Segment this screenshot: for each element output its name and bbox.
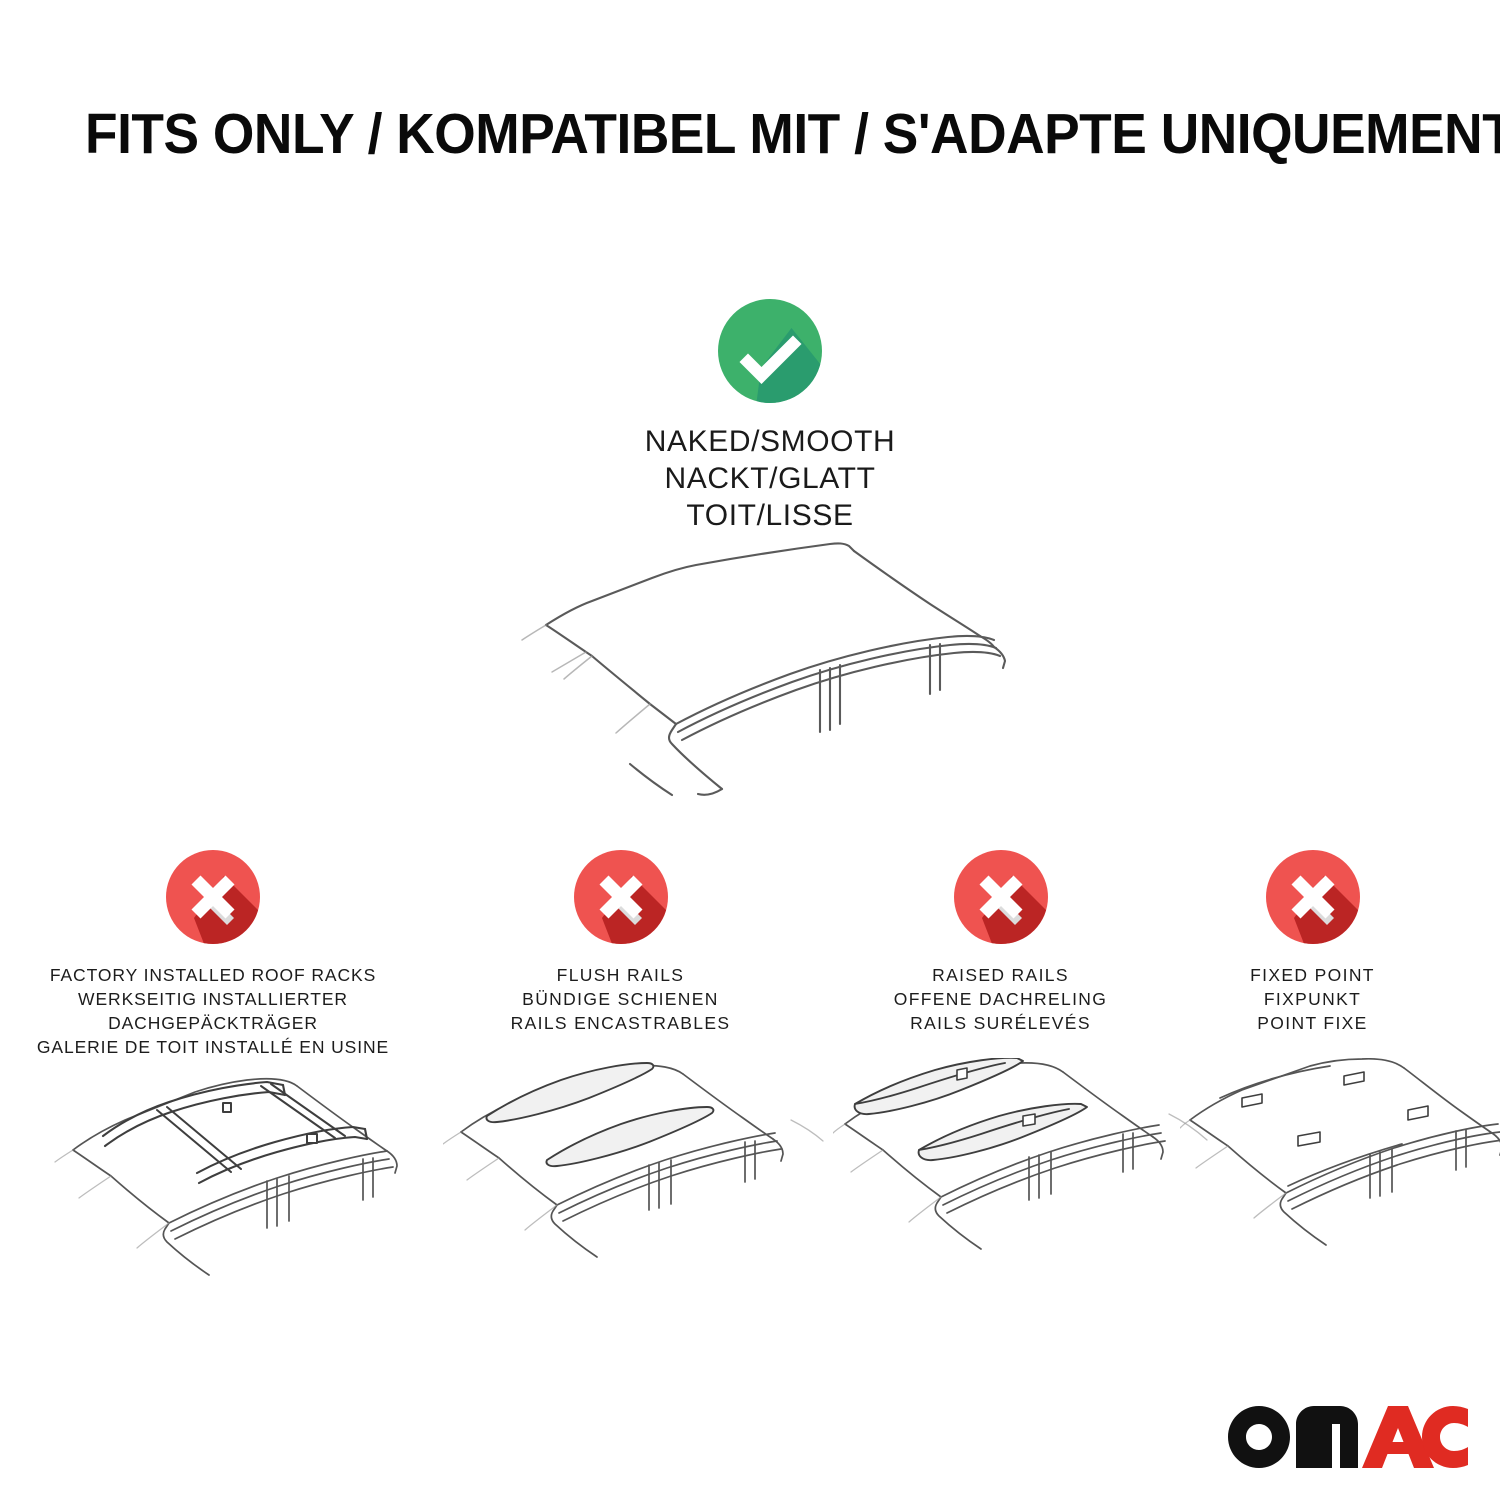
x-circle-icon	[572, 848, 670, 946]
label-line-de: OFFENE DACHRELING	[828, 987, 1173, 1011]
label-line-en: RAISED RAILS	[828, 963, 1173, 987]
incompatible-label: FLUSH RAILS BÜNDIGE SCHIENEN RAILS ENCAS…	[448, 963, 793, 1035]
compatible-block: NAKED/SMOOTH NACKT/GLATT TOIT/LISSE	[545, 296, 995, 534]
label-line-fr: RAILS SURÉLEVÉS	[828, 1011, 1173, 1035]
label-line-de-1: WERKSEITIG INSTALLIERTER	[13, 987, 413, 1011]
x-circle-icon	[164, 848, 262, 946]
car-roof-naked-smooth-illustration	[500, 518, 1060, 818]
incompatible-label: FACTORY INSTALLED ROOF RACKS WERKSEITIG …	[13, 963, 413, 1059]
car-roof-factory-roof-racks-illustration	[45, 1058, 445, 1298]
label-line-de-2: DACHGEPÄCKTRÄGER	[13, 1011, 413, 1035]
x-circle-icon	[952, 848, 1050, 946]
page-title: FITS ONLY / KOMPATIBEL MIT / S'ADAPTE UN…	[85, 104, 1338, 164]
car-roof-raised-rails-illustration	[833, 1058, 1233, 1298]
incompatible-item-factory-roof-racks: FACTORY INSTALLED ROOF RACKS WERKSEITIG …	[13, 848, 413, 1059]
incompatible-label: FIXED POINT FIXPUNKT POINT FIXE	[1185, 963, 1440, 1035]
car-roof-fixed-point-illustration	[1180, 1058, 1500, 1298]
logo-letter-m	[1296, 1406, 1358, 1468]
label-line-fr: GALERIE DE TOIT INSTALLÉ EN USINE	[13, 1035, 413, 1059]
label-line-fr: POINT FIXE	[1185, 1011, 1440, 1035]
label-line-de: FIXPUNKT	[1185, 987, 1440, 1011]
x-circle-icon	[1264, 848, 1362, 946]
label-line-en: FACTORY INSTALLED ROOF RACKS	[13, 963, 413, 987]
incompatible-row: FACTORY INSTALLED ROOF RACKS WERKSEITIG …	[0, 848, 1500, 1048]
compatible-line-de: NACKT/GLATT	[545, 460, 995, 497]
label-line-en: FIXED POINT	[1185, 963, 1440, 987]
car-roof-flush-rails-illustration	[443, 1058, 843, 1298]
check-circle-icon	[715, 296, 825, 406]
label-line-en: FLUSH RAILS	[448, 963, 793, 987]
label-line-de: BÜNDIGE SCHIENEN	[448, 987, 793, 1011]
label-line-fr: RAILS ENCASTRABLES	[448, 1011, 793, 1035]
incompatible-item-fixed-point: FIXED POINT FIXPUNKT POINT FIXE	[1185, 848, 1440, 1035]
logo-letter-o	[1228, 1406, 1290, 1468]
incompatible-item-raised-rails: RAISED RAILS OFFENE DACHRELING RAILS SUR…	[828, 848, 1173, 1035]
fitment-infographic: FITS ONLY / KOMPATIBEL MIT / S'ADAPTE UN…	[0, 0, 1500, 1500]
omac-logo	[1228, 1406, 1468, 1468]
compatible-line-en: NAKED/SMOOTH	[545, 423, 995, 460]
incompatible-item-flush-rails: FLUSH RAILS BÜNDIGE SCHIENEN RAILS ENCAS…	[448, 848, 793, 1035]
incompatible-label: RAISED RAILS OFFENE DACHRELING RAILS SUR…	[828, 963, 1173, 1035]
